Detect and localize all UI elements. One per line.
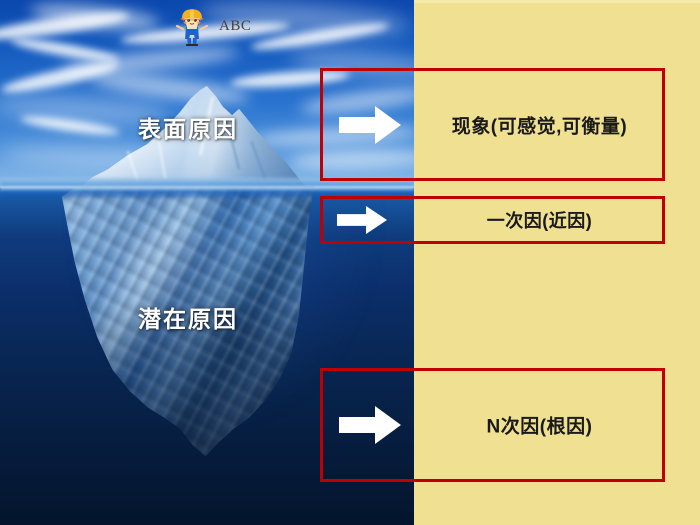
arrow-right-icon xyxy=(339,106,401,144)
label-surface-cause: 表面原因 xyxy=(138,110,238,144)
brand-logo: ABC xyxy=(175,6,251,46)
brand-text: ABC xyxy=(219,18,251,35)
hardhat-worker-mascot-icon xyxy=(175,6,209,46)
callout-box-root-cause[interactable]: N次因(根因) xyxy=(320,368,665,482)
callout-text-phenomenon: 现象(可感觉,可衡量) xyxy=(417,111,662,138)
arrow-right-icon xyxy=(337,206,387,234)
waterline-highlight xyxy=(0,186,414,191)
callout-text-primary-cause: 一次因(近因) xyxy=(417,207,662,233)
callout-box-primary-cause[interactable]: 一次因(近因) xyxy=(320,196,665,244)
arrow-right-icon xyxy=(339,406,401,444)
callout-box-phenomenon[interactable]: 现象(可感觉,可衡量) xyxy=(320,68,665,181)
panel-top-divider xyxy=(414,0,700,3)
callout-text-root-cause: N次因(根因) xyxy=(417,412,662,439)
label-latent-cause: 潜在原因 xyxy=(138,300,238,334)
slide-canvas: 表面原因 潜在原因 xyxy=(0,0,700,525)
